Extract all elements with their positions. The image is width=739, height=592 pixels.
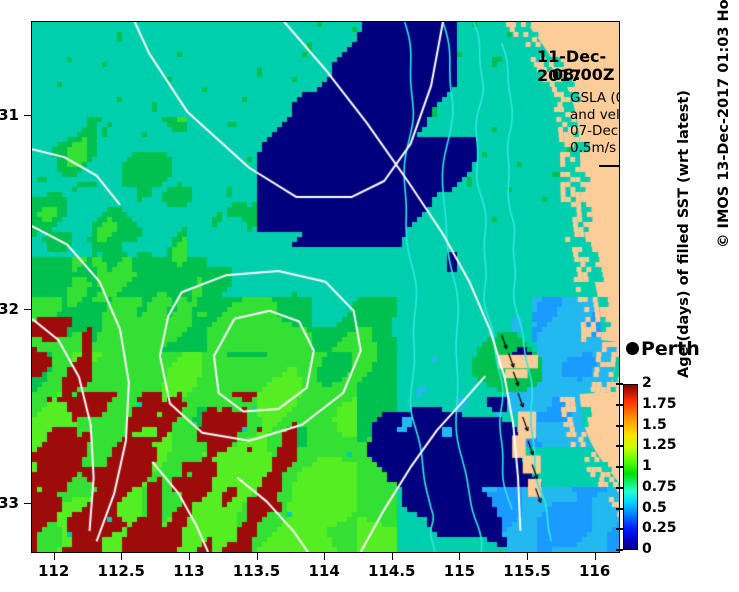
colorbar-tick-mark [616, 487, 623, 489]
colorbar-tick-mark [616, 466, 623, 468]
colorbar-tick-label: 0 [642, 541, 652, 557]
colorbar-tick-label: 1.25 [642, 437, 677, 453]
colorbar-tick-mark [616, 549, 623, 551]
colorbar-tick-mark [616, 528, 623, 530]
colorbar-tick-mark [616, 508, 623, 510]
colorbar-tick-label: 1 [642, 458, 652, 474]
velocity-scale-arrow-icon [597, 158, 620, 174]
x-tick-label: 115 [429, 562, 489, 580]
x-tick-label: 113.5 [227, 562, 287, 580]
x-tick [527, 553, 528, 560]
sst-age-map-figure: 11-Dec-2017 08:00Z 200m 1000m GSLA (0.1m… [0, 0, 739, 592]
x-tick [257, 553, 258, 560]
colorbar-tick-mark [616, 404, 623, 406]
x-tick-label: 114.5 [362, 562, 422, 580]
colorbar-tick-mark [616, 445, 623, 447]
colorbar-title: Age (days) of filled SST (wrt latest) [676, 198, 692, 378]
colorbar-tick-label: 1.5 [642, 417, 667, 433]
perth-city-marker[interactable] [626, 342, 639, 355]
colorbar-tick-label: 0.25 [642, 520, 677, 536]
colorbar-tick-mark [616, 383, 623, 385]
x-tick-label: 115.5 [497, 562, 557, 580]
colorbar-tick-mark [616, 425, 623, 427]
gsla-line-1: GSLA (0.1m contours) [570, 90, 620, 107]
x-tick-label: 116 [565, 562, 625, 580]
x-tick-label: 112 [24, 562, 84, 580]
colorbar-tick-label: 0.5 [642, 500, 667, 516]
gsla-annotation: GSLA (0.1m contours) and velocities for … [570, 90, 620, 156]
sst-age-raster [32, 22, 619, 552]
x-tick [324, 553, 325, 560]
x-tick [189, 553, 190, 560]
colorbar-gradient [623, 384, 638, 550]
x-tick [121, 553, 122, 560]
credit-text: © IMOS 13-Dec-2017 01:03 Hobart Time [716, 0, 732, 248]
gsla-line-3: 07-Dec 00:00Z [570, 123, 620, 140]
map-time-label: 08:00Z [552, 65, 615, 84]
x-tick-label: 113 [159, 562, 219, 580]
gsla-line-2: and velocities for [570, 107, 620, 124]
y-tick-label: -32 [0, 300, 19, 318]
x-tick [595, 553, 596, 560]
gsla-line-4: 0.5m/s (1kt 6h) [570, 140, 620, 157]
colorbar-tick-label: 2 [642, 375, 652, 391]
x-tick [392, 553, 393, 560]
x-tick-label: 114 [294, 562, 354, 580]
colorbar-tick-label: 1.75 [642, 396, 677, 412]
map-plot-area[interactable]: 11-Dec-2017 08:00Z 200m 1000m GSLA (0.1m… [31, 21, 620, 553]
colorbar-tick-label: 0.75 [642, 479, 677, 495]
y-tick [24, 503, 31, 504]
y-tick [24, 309, 31, 310]
y-tick-label: -33 [0, 494, 19, 512]
y-tick-label: -31 [0, 106, 19, 124]
x-tick [459, 553, 460, 560]
y-tick [24, 115, 31, 116]
x-tick [54, 553, 55, 560]
x-tick-label: 112.5 [91, 562, 151, 580]
